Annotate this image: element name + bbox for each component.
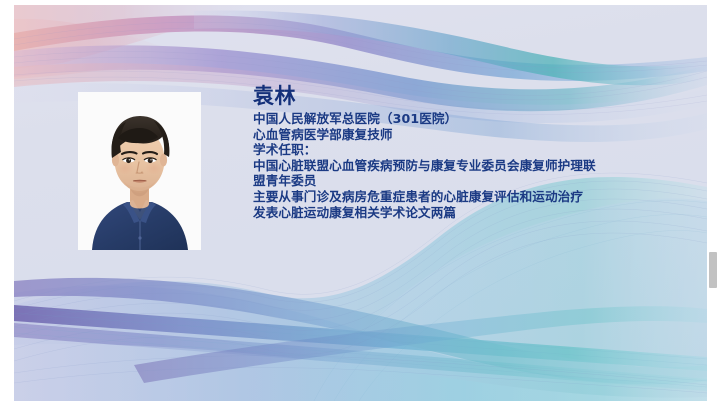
page-title: 袁林 (253, 83, 683, 109)
screenshot-viewport: 袁林 中国人民解放军总医院（301医院） 心血管病医学部康复技师 学术任职： 中… (0, 0, 720, 407)
bio-line-roles-heading: 学术任职： (253, 142, 683, 158)
bio-line-department: 心血管病医学部康复技师 (253, 127, 683, 143)
bio-line-role-1a: 中国心脏联盟心血管疾病预防与康复专业委员会康复师护理联 (253, 158, 683, 174)
bio-line-publications: 发表心脏运动康复相关学术论文两篇 (253, 205, 683, 221)
vertical-scrollbar[interactable] (707, 0, 720, 407)
scrollbar-thumb[interactable] (709, 252, 717, 288)
presentation-slide: 袁林 中国人民解放军总医院（301医院） 心血管病医学部康复技师 学术任职： 中… (14, 5, 707, 401)
portrait-photo (78, 92, 201, 250)
bio-line-hospital: 中国人民解放军总医院（301医院） (253, 111, 683, 127)
bio-line-role-1b: 盟青年委员 (253, 173, 683, 189)
bio-line-duties: 主要从事门诊及病房危重症患者的心脏康复评估和运动治疗 (253, 189, 683, 205)
bio-text-block: 袁林 中国人民解放军总医院（301医院） 心血管病医学部康复技师 学术任职： 中… (253, 83, 683, 220)
